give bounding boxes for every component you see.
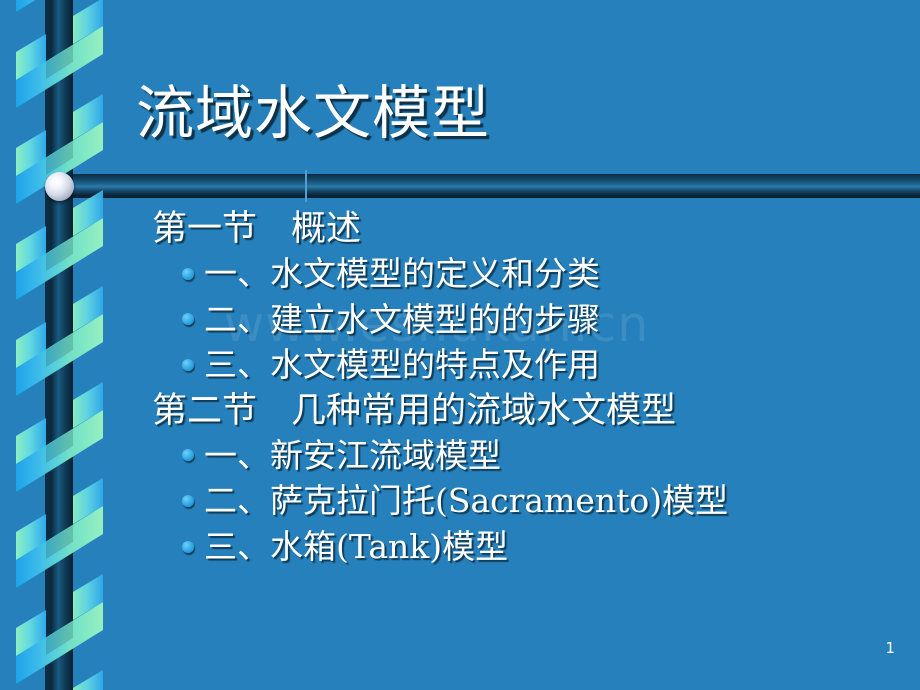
slide-body: 第一节概述 一、水文模型的定义和分类 二、建立水文模型的的步骤 三、水文模型的特…: [0, 208, 920, 571]
section-1-heading: 第一节概述: [0, 208, 920, 251]
list-item: 一、水文模型的定义和分类: [0, 251, 920, 297]
section-2-number: 第二节: [152, 391, 257, 431]
bullet-dot-icon: [182, 449, 194, 461]
title-bar-knob-sphere: [45, 172, 74, 201]
list-item: 三、水箱(Tank)模型: [0, 524, 920, 570]
section-2-title: 几种常用的流域水文模型: [291, 391, 676, 431]
bullet-dot-icon: [182, 495, 194, 507]
bullet-dot-icon: [182, 359, 194, 371]
list-item-label: 一、水文模型的定义和分类: [204, 254, 600, 293]
list-item-label: 二、萨克拉门托(Sacramento)模型: [204, 481, 728, 520]
title-divider-bar: [56, 174, 920, 198]
bullet-dot-icon: [182, 541, 194, 553]
presentation-slide: 流域水文模型 www.eshukan.cn 第一节概述 一、水文模型的定义和分类…: [0, 0, 920, 690]
bullet-dot-icon: [182, 268, 194, 280]
title-bar-tick-mark: [305, 170, 307, 202]
list-item: 一、新安江流域模型: [0, 433, 920, 479]
list-item-label: 三、水箱(Tank)模型: [204, 527, 508, 566]
section-1-bullets: 一、水文模型的定义和分类 二、建立水文模型的的步骤 三、水文模型的特点及作用: [0, 251, 920, 388]
bullet-dot-icon: [182, 313, 194, 325]
section-2: 第二节几种常用的流域水文模型 一、新安江流域模型 二、萨克拉门托(Sacrame…: [0, 390, 920, 570]
section-2-bullets: 一、新安江流域模型 二、萨克拉门托(Sacramento)模型 三、水箱(Tan…: [0, 433, 920, 570]
list-item: 二、建立水文模型的的步骤: [0, 297, 920, 343]
slide-title: 流域水文模型: [136, 83, 490, 144]
section-1: 第一节概述 一、水文模型的定义和分类 二、建立水文模型的的步骤 三、水文模型的特…: [0, 208, 920, 388]
list-item: 三、水文模型的特点及作用: [0, 342, 920, 388]
list-item-label: 三、水文模型的特点及作用: [204, 345, 600, 384]
section-1-title: 概述: [291, 209, 361, 249]
page-number: 1: [885, 639, 895, 657]
list-item-label: 二、建立水文模型的的步骤: [204, 300, 600, 339]
section-2-heading: 第二节几种常用的流域水文模型: [0, 390, 920, 433]
list-item-label: 一、新安江流域模型: [204, 436, 501, 475]
section-1-number: 第一节: [152, 209, 257, 249]
list-item: 二、萨克拉门托(Sacramento)模型: [0, 478, 920, 524]
